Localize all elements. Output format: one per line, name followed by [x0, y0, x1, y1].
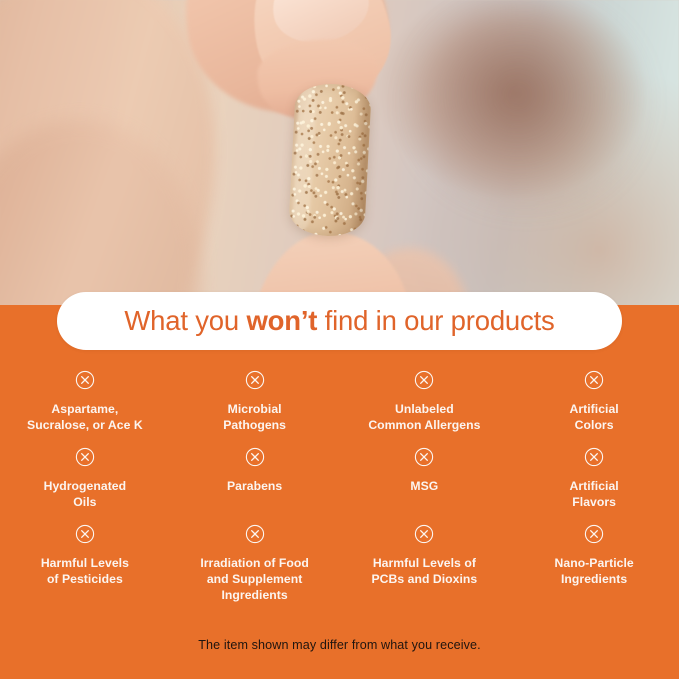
- claim-item-label: Nano-Particle Ingredients: [555, 556, 634, 587]
- claim-item: Irradiation of Food and Supplement Ingre…: [170, 524, 340, 603]
- claim-item-label: Irradiation of Food and Supplement Ingre…: [200, 556, 309, 603]
- claim-item: Microbial Pathogens: [170, 370, 340, 433]
- claim-item-label: Artificial Flavors: [569, 479, 618, 510]
- circle-x-icon: [75, 370, 95, 390]
- circle-x-icon: [245, 370, 265, 390]
- claim-item: Parabens: [170, 447, 340, 510]
- headline-part-1: What you: [124, 305, 246, 336]
- excluded-ingredients-grid: Aspartame, Sucralose, or Ace K Microbial…: [0, 370, 679, 603]
- circle-x-icon: [245, 447, 265, 467]
- disclaimer-text: The item shown may differ from what you …: [0, 638, 679, 652]
- claim-item: Hydrogenated Oils: [0, 447, 170, 510]
- claim-item: Nano-Particle Ingredients: [509, 524, 679, 603]
- circle-x-icon: [75, 524, 95, 544]
- claim-item: Aspartame, Sucralose, or Ace K: [0, 370, 170, 433]
- claim-item: Unlabeled Common Allergens: [340, 370, 510, 433]
- claim-item-label: Harmful Levels of PCBs and Dioxins: [371, 556, 477, 587]
- claim-item: Artificial Colors: [509, 370, 679, 433]
- claim-item-label: Harmful Levels of Pesticides: [41, 556, 129, 587]
- product-photo: [0, 0, 679, 312]
- claim-item: Artificial Flavors: [509, 447, 679, 510]
- claim-item: Harmful Levels of Pesticides: [0, 524, 170, 603]
- claim-item-label: Microbial Pathogens: [223, 402, 286, 433]
- circle-x-icon: [414, 370, 434, 390]
- circle-x-icon: [414, 524, 434, 544]
- headline-part-2: find in our products: [317, 305, 554, 336]
- circle-x-icon: [75, 447, 95, 467]
- headline-text: What you won’t find in our products: [124, 305, 554, 337]
- claim-item-label: MSG: [410, 479, 438, 495]
- headline-banner: What you won’t find in our products: [57, 292, 622, 350]
- circle-x-icon: [414, 447, 434, 467]
- supplement-tablet: [288, 82, 372, 238]
- photo-background-blur-blob: [415, 5, 645, 205]
- circle-x-icon: [245, 524, 265, 544]
- circle-x-icon: [584, 447, 604, 467]
- claim-item-label: Unlabeled Common Allergens: [368, 402, 480, 433]
- claim-item-label: Parabens: [227, 479, 282, 495]
- claim-item: MSG: [340, 447, 510, 510]
- product-claims-panel: What you won’t find in our products Aspa…: [0, 0, 679, 679]
- circle-x-icon: [584, 370, 604, 390]
- claim-item: Harmful Levels of PCBs and Dioxins: [340, 524, 510, 603]
- claim-item-label: Hydrogenated Oils: [44, 479, 127, 510]
- claim-item-label: Aspartame, Sucralose, or Ace K: [27, 402, 143, 433]
- circle-x-icon: [584, 524, 604, 544]
- claim-item-label: Artificial Colors: [569, 402, 618, 433]
- headline-emphasis: won’t: [246, 305, 317, 336]
